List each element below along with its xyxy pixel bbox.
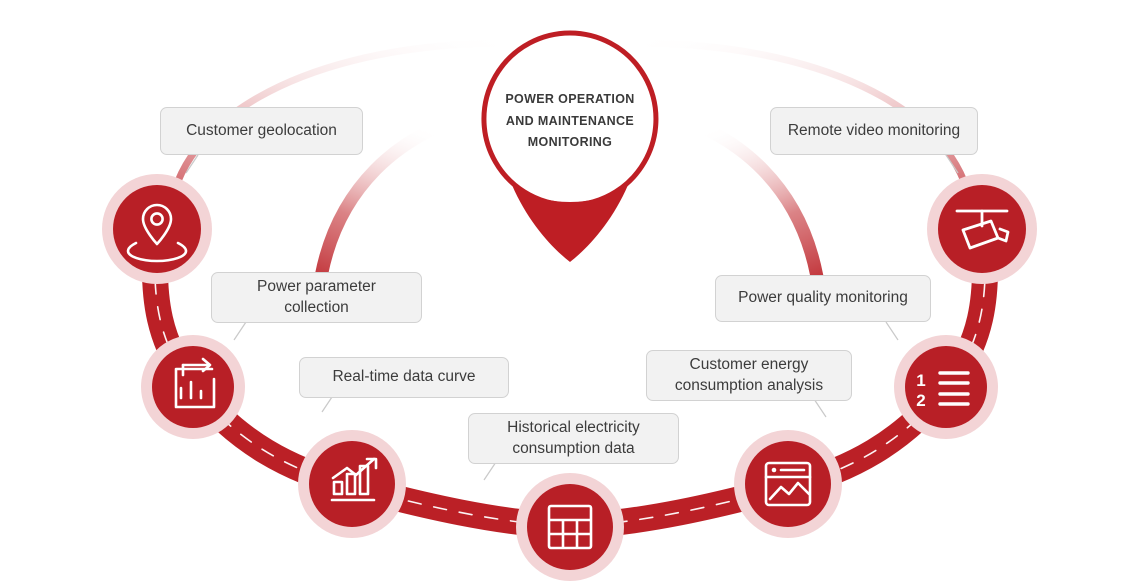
callout-label-line-1: Power parameter [257,277,376,298]
callout-label: Real-time data curve [332,367,475,388]
callout-label-line-2: consumption analysis [675,376,823,397]
callout-customer-geolocation[interactable]: Customer geolocation [160,107,363,155]
callout-customer-energy-analysis[interactable]: Customer energy consumption analysis [646,350,852,401]
callout-real-time-data-curve[interactable]: Real-time data curve [299,357,509,398]
callout-label: Customer geolocation [186,121,337,142]
svg-text:1: 1 [916,371,925,390]
diagram-canvas: 1 2 POWER OPERATION AND MAINTENA [0,0,1139,587]
callout-label: Remote video monitoring [788,121,960,142]
central-map-pin [484,33,656,262]
callout-label-line-2: consumption data [512,439,634,460]
callout-label-line-2: collection [284,298,349,319]
callout-historical-electricity-data[interactable]: Historical electricity consumption data [468,413,679,464]
svg-text:2: 2 [916,391,925,410]
callout-label-line-1: Historical electricity [507,418,640,439]
callout-remote-video-monitoring[interactable]: Remote video monitoring [770,107,978,155]
callout-label: Power quality monitoring [738,288,908,309]
callout-label-line-1: Customer energy [690,355,809,376]
callout-power-parameter-collection[interactable]: Power parameter collection [211,272,422,323]
diagram-graphics: 1 2 [0,0,1139,587]
callout-power-quality-monitoring[interactable]: Power quality monitoring [715,275,931,322]
